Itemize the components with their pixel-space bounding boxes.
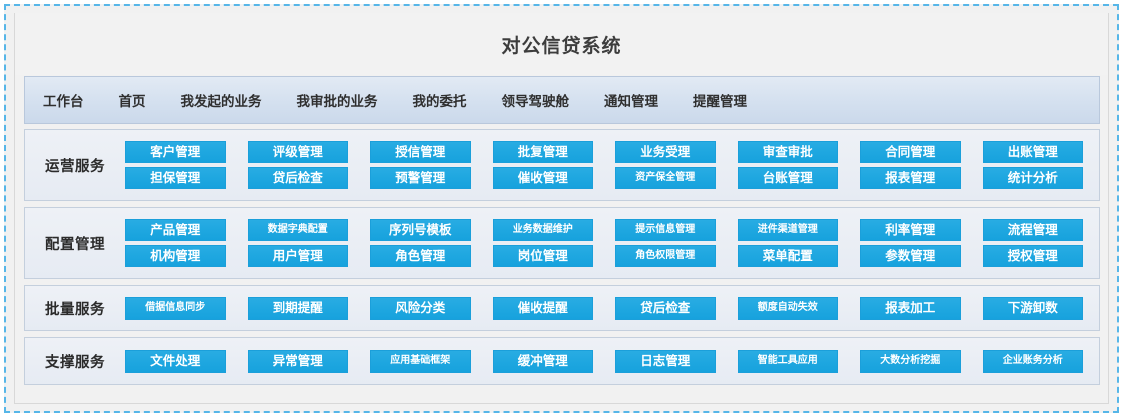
module-tile[interactable]: 审查审批 [738,141,839,163]
nav-item-5[interactable]: 我的委托 [411,86,469,114]
module-tile[interactable]: 台账管理 [738,167,839,189]
module-tile[interactable]: 机构管理 [125,245,226,267]
module-tile[interactable]: 流程管理 [983,219,1084,241]
module-tile[interactable]: 额度自动失效 [738,297,839,320]
module-tile[interactable]: 授权管理 [983,245,1084,267]
module-tile[interactable]: 报表加工 [860,297,961,320]
module-tile[interactable]: 产品管理 [125,219,226,241]
service-group-4: 支撑服务文件处理异常管理应用基础框架缓冲管理日志管理智能工具应用大数分析挖掘企业… [24,337,1100,385]
module-tile[interactable]: 异常管理 [248,350,349,373]
module-tile[interactable]: 催收提醒 [493,297,594,320]
module-tile[interactable]: 业务数据维护 [493,219,594,241]
module-tile[interactable]: 角色权限管理 [615,245,716,267]
main-navigation: 工作台首页我发起的业务我审批的业务我的委托领导驾驶舱通知管理提醒管理 [24,76,1100,124]
module-tile[interactable]: 缓冲管理 [493,350,594,373]
module-tile[interactable]: 应用基础框架 [370,350,471,373]
module-tile[interactable]: 授信管理 [370,141,471,163]
module-tile[interactable]: 风险分类 [370,297,471,320]
module-tile[interactable]: 预警管理 [370,167,471,189]
module-tile[interactable]: 利率管理 [860,219,961,241]
module-tile[interactable]: 序列号模板 [370,219,471,241]
module-tile-grid: 文件处理异常管理应用基础框架缓冲管理日志管理智能工具应用大数分析挖掘企业账务分析 [125,350,1099,373]
service-group-1: 运营服务客户管理评级管理授信管理批复管理业务受理审查审批合同管理出账管理担保管理… [24,129,1100,201]
module-tile[interactable]: 文件处理 [125,350,226,373]
nav-item-6[interactable]: 领导驾驶舱 [500,86,572,114]
page-title: 对公信贷系统 [501,31,621,58]
group-label: 配置管理 [25,233,125,254]
module-tile[interactable]: 贷后检查 [248,167,349,189]
module-tile[interactable]: 用户管理 [248,245,349,267]
nav-item-3[interactable]: 我发起的业务 [179,86,264,114]
app-window: 对公信贷系统 工作台首页我发起的业务我审批的业务我的委托领导驾驶舱通知管理提醒管… [14,13,1109,404]
module-tile[interactable]: 进件渠道管理 [738,219,839,241]
module-tile[interactable]: 下游卸数 [983,297,1084,320]
service-group-3: 批量服务借据信息同步到期提醒风险分类催收提醒贷后检查额度自动失效报表加工下游卸数 [24,285,1100,331]
module-tile[interactable]: 资产保全管理 [615,167,716,189]
module-tile[interactable]: 企业账务分析 [983,350,1084,373]
module-tile[interactable]: 智能工具应用 [738,350,839,373]
module-tile-grid: 借据信息同步到期提醒风险分类催收提醒贷后检查额度自动失效报表加工下游卸数 [125,297,1099,320]
module-tile[interactable]: 贷后检查 [615,297,716,320]
module-tile[interactable]: 提示信息管理 [615,219,716,241]
module-tile[interactable]: 数据字典配置 [248,219,349,241]
service-group-2: 配置管理产品管理数据字典配置序列号模板业务数据维护提示信息管理进件渠道管理利率管… [24,207,1100,279]
nav-item-1[interactable]: 工作台 [41,86,86,114]
module-tile[interactable]: 报表管理 [860,167,961,189]
module-tile[interactable]: 角色管理 [370,245,471,267]
module-tile-grid: 产品管理数据字典配置序列号模板业务数据维护提示信息管理进件渠道管理利率管理流程管… [125,219,1099,267]
nav-item-2[interactable]: 首页 [117,86,148,114]
nav-item-8[interactable]: 提醒管理 [691,86,749,114]
module-tile[interactable]: 担保管理 [125,167,226,189]
module-tile[interactable]: 到期提醒 [248,297,349,320]
module-tile[interactable]: 出账管理 [983,141,1084,163]
module-tile[interactable]: 催收管理 [493,167,594,189]
module-tile[interactable]: 大数分析挖掘 [860,350,961,373]
nav-item-7[interactable]: 通知管理 [602,86,660,114]
module-tile[interactable]: 评级管理 [248,141,349,163]
module-tile[interactable]: 菜单配置 [738,245,839,267]
module-tile-grid: 客户管理评级管理授信管理批复管理业务受理审查审批合同管理出账管理担保管理贷后检查… [125,141,1099,189]
title-bar: 对公信贷系统 [15,13,1108,75]
nav-item-4[interactable]: 我审批的业务 [295,86,380,114]
module-tile[interactable]: 客户管理 [125,141,226,163]
screenshot-root: 对公信贷系统 工作台首页我发起的业务我审批的业务我的委托领导驾驶舱通知管理提醒管… [0,0,1123,417]
module-tile[interactable]: 合同管理 [860,141,961,163]
group-label: 运营服务 [25,155,125,176]
module-tile[interactable]: 借据信息同步 [125,297,226,320]
module-tile[interactable]: 批复管理 [493,141,594,163]
module-tile[interactable]: 业务受理 [615,141,716,163]
module-tile[interactable]: 参数管理 [860,245,961,267]
group-label: 支撑服务 [25,351,125,372]
group-label: 批量服务 [25,298,125,319]
module-tile[interactable]: 日志管理 [615,350,716,373]
module-tile[interactable]: 岗位管理 [493,245,594,267]
module-tile[interactable]: 统计分析 [983,167,1084,189]
